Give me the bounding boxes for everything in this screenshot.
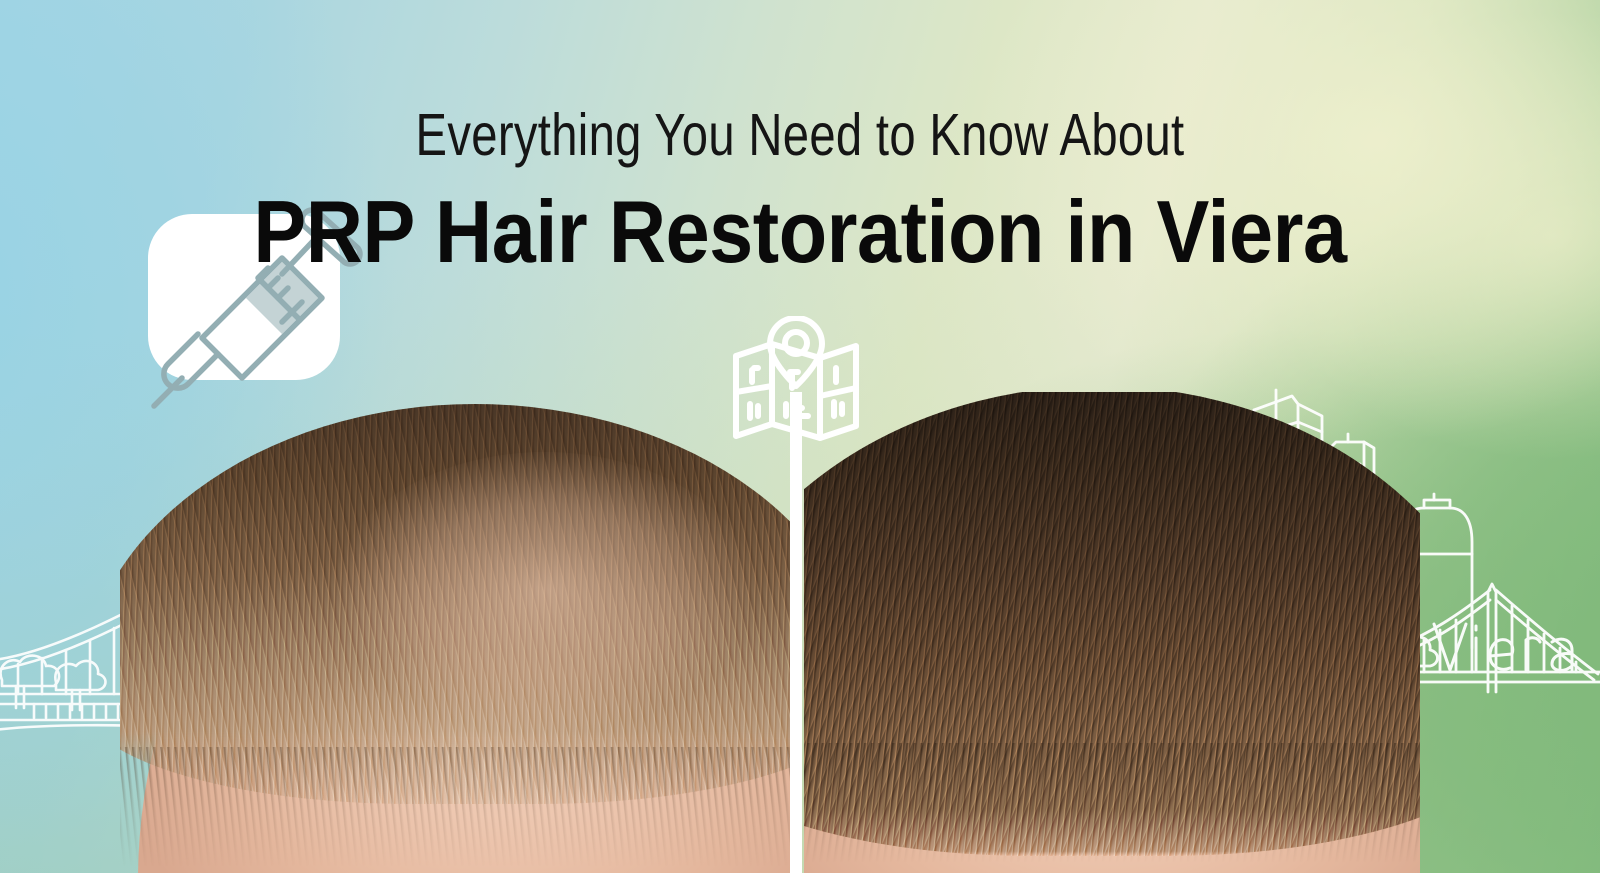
prp-hair-restoration-banner: Everything You Need to Know About PRP Ha… <box>0 0 1600 873</box>
before-after-divider <box>790 392 802 873</box>
after-hair-dense <box>804 392 1420 856</box>
before-after-hair-comparison <box>120 392 1420 873</box>
after-head-photo <box>804 392 1420 873</box>
before-head-photo <box>120 392 800 873</box>
syringe-icon <box>132 202 372 414</box>
before-visible-scalp <box>330 452 760 752</box>
after-hair-strands <box>804 392 1420 856</box>
folded-map-with-pin-icon <box>728 316 864 448</box>
